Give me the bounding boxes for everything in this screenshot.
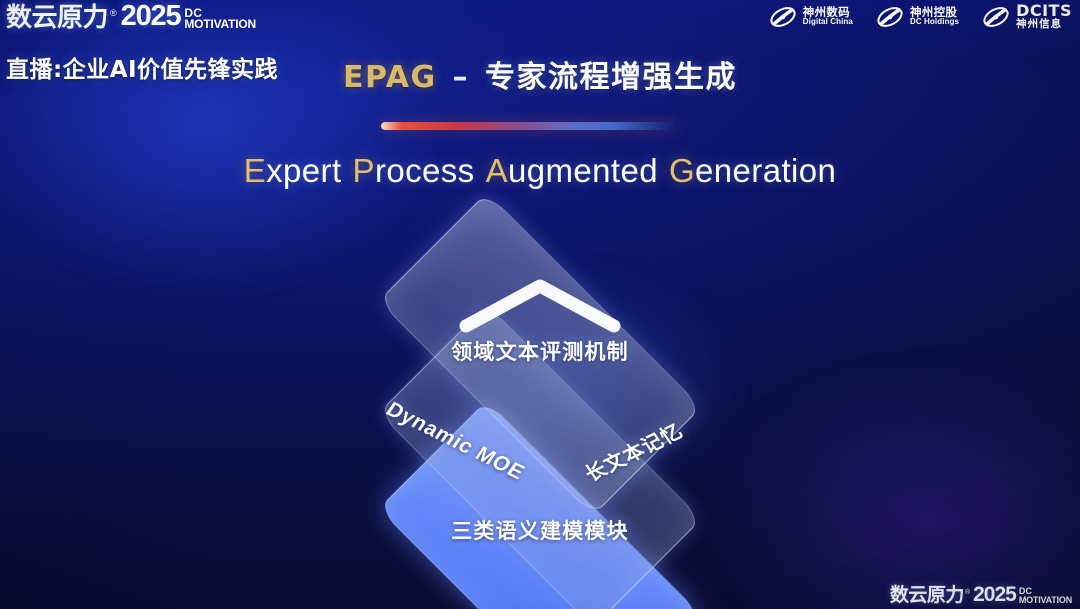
stack-label-top: 领域文本评测机制 [451,336,629,366]
stack-label-bottom: 三类语义建模模块 [451,515,629,545]
slide-canvas: 数云原力 ® 2025 DC MOTIVATION 直播:企业AI价值先锋实践 … [0,0,1080,609]
chevron-up-icon [456,274,624,336]
